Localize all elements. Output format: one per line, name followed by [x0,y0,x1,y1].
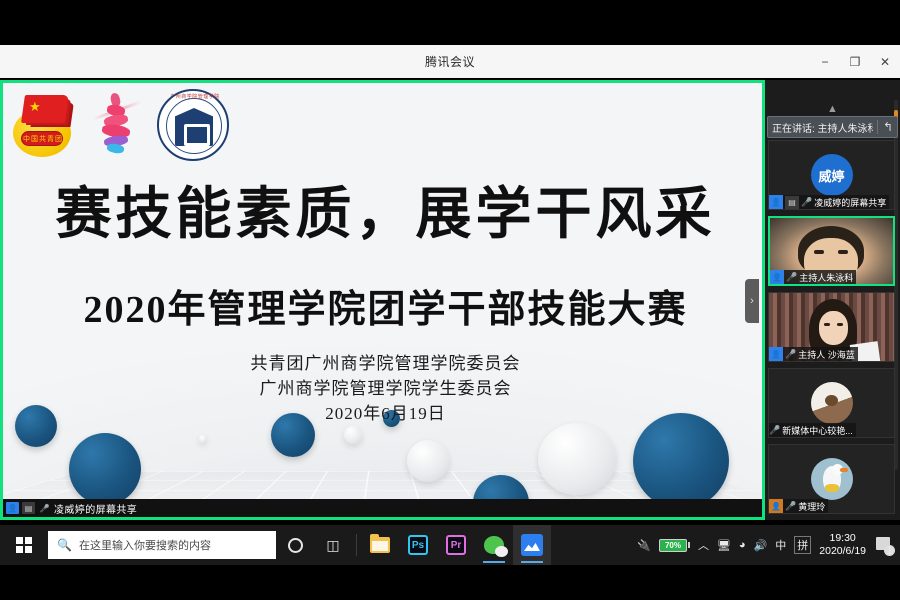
mic-muted-icon: 🎤 [38,502,51,514]
avatar-eye [838,250,848,254]
clock-date: 2020/6/19 [819,545,866,558]
participant-tile[interactable]: 🎤 新媒体中心较艳... [768,368,895,438]
screen-share-icon: ▤ [22,502,35,514]
participant-tile[interactable]: 👤 🎤 主持人 沙海蓝 [768,292,895,362]
screen-share-icon: ▤ [785,196,799,209]
start-button[interactable] [0,525,48,565]
participant-tile[interactable]: 👤 🎤 黄理玲 [768,444,895,514]
wifi-icon[interactable]: ◕ [739,539,746,551]
premiere-icon[interactable]: Pr [437,525,475,565]
decor-ball [538,423,616,495]
mic-icon: 🎤 [785,349,796,360]
ribbon-tower-logo-icon [93,91,141,159]
battery-percent: 70% [665,541,681,550]
decor-ball [199,435,207,443]
tile-label: 🎤 新媒体中心较艳... [769,423,856,437]
hardware-icon[interactable]: 🖥 [717,539,731,552]
task-view-icon[interactable]: ◫ [314,525,352,565]
panel-collapse-handle[interactable]: › [745,279,759,323]
photoshop-glyph: Ps [408,535,428,555]
notification-icon[interactable]: 1 [874,535,894,555]
ime-pinyin-icon[interactable]: 拼 [794,536,811,554]
tile-label: 👤 ▤ 🎤 凌威婷的屏幕共享 [769,195,889,209]
participant-tile[interactable]: 👤 🎤 主持人朱泳科 [768,216,895,286]
mic-icon: 🎤 [786,272,797,283]
window-controls: − ❐ ✕ [810,45,900,78]
mic-muted-icon: 🎤 [769,425,780,436]
clock-time: 19:30 [819,532,866,545]
window-titlebar: 腾讯会议 [0,45,900,78]
premiere-glyph: Pr [446,535,466,555]
windows-logo-icon [16,537,32,553]
decor-ball [69,433,141,505]
close-button[interactable]: ✕ [870,45,900,78]
slide-date: 2020年6月19日 [3,401,762,426]
clock[interactable]: 19:30 2020/6/19 [819,532,866,558]
university-seal-logo-icon: 广州商学院管理学院 [157,89,229,161]
speaking-tooltip-text: 正在讲话: 主持人朱泳科; [772,120,873,135]
participant-name: 黄理玲 [798,500,825,513]
letterbox-top [0,0,900,45]
letterbox-bottom [0,565,900,600]
tile-label: 👤 🎤 主持人朱泳科 [770,270,856,284]
system-tray: 🔌 70% ︿ 🖥 ◕ 🔊 中 拼 19:30 2020/6/19 1 [637,525,900,565]
shared-screen-region: ★ 中国共青团 广州商学院管理学院 赛技能素质，展学干风采 2020年管理学院团… [0,80,765,520]
notification-count: 1 [884,545,895,556]
search-placeholder: 在这里输入你要搜索的内容 [79,537,211,553]
reply-arrow-icon[interactable]: ↰ [877,120,893,134]
avatar: 威婷 [811,154,853,196]
power-plug-icon[interactable]: 🔌 [637,539,651,552]
person-icon: 👤 [6,502,19,514]
participant-name: 主持人朱泳科 [799,271,853,284]
avatar-initials: 威婷 [818,166,844,185]
cyl-band-text: 中国共青团 [22,132,64,147]
decor-ball [344,426,362,444]
decor-ball [407,440,449,482]
avatar-goose-feet [825,484,839,492]
avatar-eye [824,323,830,326]
file-explorer-icon[interactable] [361,525,399,565]
slide-organizations: 共青团广州商学院管理学院委员会 广州商学院管理学院学生委员会 2020年6月19… [3,351,762,426]
presentation-slide: ★ 中国共青团 广州商学院管理学院 赛技能素质，展学干风采 2020年管理学院团… [3,83,762,517]
photoshop-icon[interactable]: Ps [399,525,437,565]
taskbar-icons: ◫ Ps Pr [276,525,551,565]
participant-tile[interactable]: 威婷 👤 ▤ 🎤 凌威婷的屏幕共享 [768,140,895,210]
person-icon: 👤 [769,347,783,361]
participant-name: 新媒体中心较艳... [782,424,853,437]
ime-mode-icon[interactable]: 中 [775,537,786,553]
tile-label: 👤 🎤 黄理玲 [769,499,828,513]
share-footer-label: 凌威婷的屏幕共享 [54,501,137,516]
mic-muted-icon: 🎤 [801,197,812,208]
search-icon: 🔍 [57,538,72,552]
seal-top-text: 广州商学院管理学院 [159,93,231,100]
tile-label: 👤 🎤 主持人 沙海蓝 [769,347,858,361]
speaking-tooltip: 正在讲话: 主持人朱泳科; ↰ [767,116,898,138]
person-icon: 👤 [770,270,784,284]
slide-title: 赛技能素质，展学干风采 [3,169,762,250]
window-title: 腾讯会议 [425,53,475,70]
tencent-meeting-icon[interactable] [513,525,551,565]
minimize-button[interactable]: − [810,45,840,78]
participants-panel: ▲ ▼ 正在讲话: 主持人朱泳科; ↰ 威婷 👤 ▤ 🎤 凌威婷的屏幕共享 [765,80,900,520]
maximize-button[interactable]: ❐ [840,45,870,78]
desktop-screen: 腾讯会议 − ❐ ✕ ★ 中国共 [0,0,900,600]
avatar-eye [837,323,843,326]
participant-tiles: 威婷 👤 ▤ 🎤 凌威婷的屏幕共享 👤 🎤 主 [768,140,895,520]
battery-indicator[interactable]: 70% [659,539,690,552]
share-footer-bar: 👤 ▤ 🎤 凌威婷的屏幕共享 [3,499,762,517]
wechat-icon[interactable] [475,525,513,565]
slide-org-line: 共青团广州商学院管理学院委员会 [3,351,762,376]
participant-name: 主持人 沙海蓝 [798,348,855,361]
mic-muted-icon: 🎤 [785,501,796,512]
participant-name: 凌威婷的屏幕共享 [814,196,886,209]
slide-logos: ★ 中国共青团 广州商学院管理学院 [9,89,229,161]
cortana-icon[interactable] [276,525,314,565]
avatar-photo [825,395,838,406]
taskbar-divider [356,534,357,556]
person-icon: 👤 [769,195,783,209]
avatar-goose-beak [840,468,848,472]
chevron-up-icon[interactable]: ︿ [698,537,709,553]
search-input[interactable]: 🔍 在这里输入你要搜索的内容 [48,531,276,559]
slide-org-line: 广州商学院管理学院学生委员会 [3,376,762,401]
avatar-eye [814,250,824,254]
person-icon-orange: 👤 [769,499,783,513]
avatar-face [819,311,848,345]
avatar [811,458,853,500]
slide-subtitle: 2020年管理学院团学干部技能大赛 [3,278,762,333]
communist-youth-league-emblem-icon: ★ 中国共青团 [9,91,77,159]
windows-taskbar: 🔍 在这里输入你要搜索的内容 ◫ Ps Pr 🔌 70% [0,525,900,565]
volume-icon[interactable]: 🔊 [754,539,768,552]
avatar [811,382,853,424]
decor-ball [633,413,729,509]
